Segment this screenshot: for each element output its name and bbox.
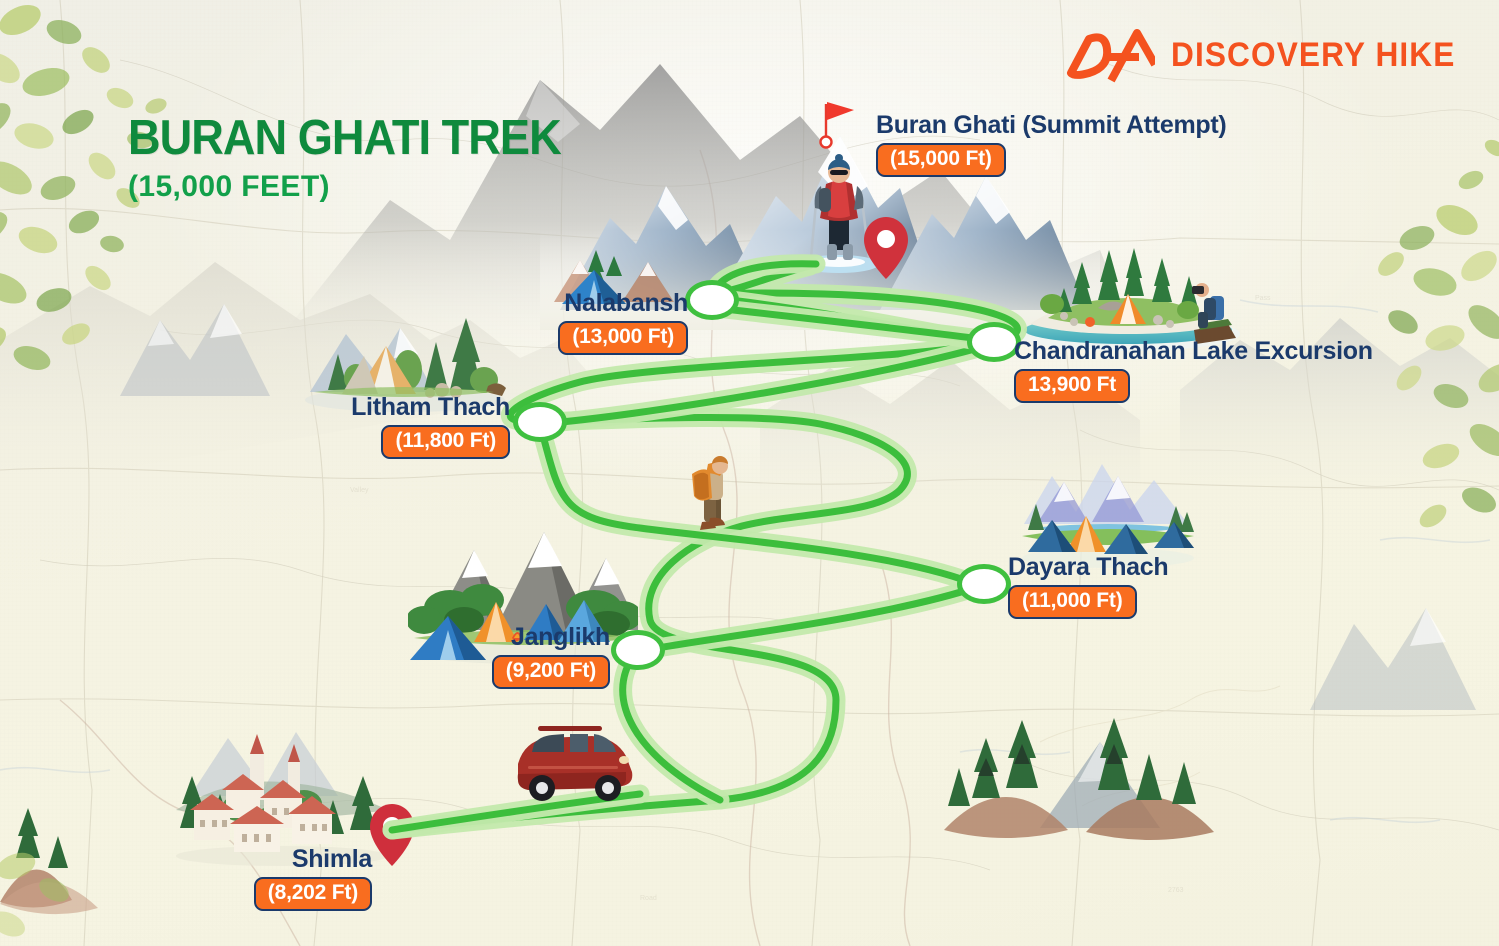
stop-name: Nalabansh bbox=[368, 290, 688, 316]
stop-elevation-badge: (15,000 Ft) bbox=[876, 143, 1006, 177]
stop-elevation-badge: (8,202 Ft) bbox=[254, 877, 372, 911]
route-stop-dot-icon[interactable] bbox=[685, 280, 739, 320]
route-stop-dot-icon[interactable] bbox=[611, 630, 665, 670]
stop-label-dayara-thach[interactable]: Dayara Thach (11,000 Ft) bbox=[1008, 554, 1168, 619]
title-block: BURAN GHATI TREK (15,000 FEET) bbox=[128, 114, 598, 202]
stop-label-litham-thach[interactable]: Litham Thach (11,800 Ft) bbox=[180, 394, 510, 459]
stop-elevation-badge: (11,800 Ft) bbox=[381, 425, 510, 459]
pine-hill-icon bbox=[1310, 584, 1499, 744]
stop-elevation-badge: (11,000 Ft) bbox=[1008, 585, 1137, 619]
leaf-cluster-icon bbox=[1329, 60, 1499, 560]
brand-logo[interactable]: DISCOVERY HIKE bbox=[1063, 27, 1477, 83]
route-stop-dot-icon[interactable] bbox=[967, 322, 1021, 362]
leaf-cluster-icon bbox=[0, 0, 230, 410]
page-subtitle: (15,000 FEET) bbox=[128, 172, 598, 202]
pine-hill-icon bbox=[944, 702, 1244, 842]
stop-elevation-badge: (9,200 Ft) bbox=[492, 655, 610, 689]
stop-name: Dayara Thach bbox=[1008, 554, 1168, 580]
page-title: BURAN GHATI TREK bbox=[128, 114, 561, 163]
stop-label-nalabansh[interactable]: Nalabansh (13,000 Ft) bbox=[368, 290, 688, 355]
stop-label-shimla[interactable]: Shimla (8,202 Ft) bbox=[110, 846, 372, 911]
stop-name: Janglikh bbox=[320, 624, 610, 650]
hiker-with-backpack-icon bbox=[682, 448, 744, 538]
stop-name: Litham Thach bbox=[180, 394, 510, 420]
trek-route-map: Hills Ridge Valley Pass Road 2763 bbox=[0, 0, 1499, 946]
stop-name: Chandranahan Lake Excursion bbox=[1014, 338, 1373, 364]
stop-elevation-badge: (13,000 Ft) bbox=[558, 321, 688, 355]
stop-label-janglikh[interactable]: Janglikh (9,200 Ft) bbox=[320, 624, 610, 689]
stop-name: Shimla bbox=[110, 846, 372, 872]
stop-name: Buran Ghati (Summit Attempt) bbox=[876, 112, 1226, 138]
stop-elevation-badge: 13,900 Ft bbox=[1014, 369, 1130, 403]
red-van-icon bbox=[508, 722, 638, 804]
route-stop-dot-icon[interactable] bbox=[513, 402, 567, 442]
brand-name: DISCOVERY HIKE bbox=[1171, 38, 1455, 72]
stop-label-chandranahan-lake[interactable]: Chandranahan Lake Excursion 13,900 Ft bbox=[1014, 338, 1373, 403]
route-stop-dot-icon[interactable] bbox=[957, 564, 1011, 604]
leaf-cluster-icon bbox=[0, 806, 110, 946]
stop-label-buran-ghati[interactable]: Buran Ghati (Summit Attempt) (15,000 Ft) bbox=[876, 112, 1226, 177]
dh-mountain-monogram-icon bbox=[1063, 27, 1155, 83]
